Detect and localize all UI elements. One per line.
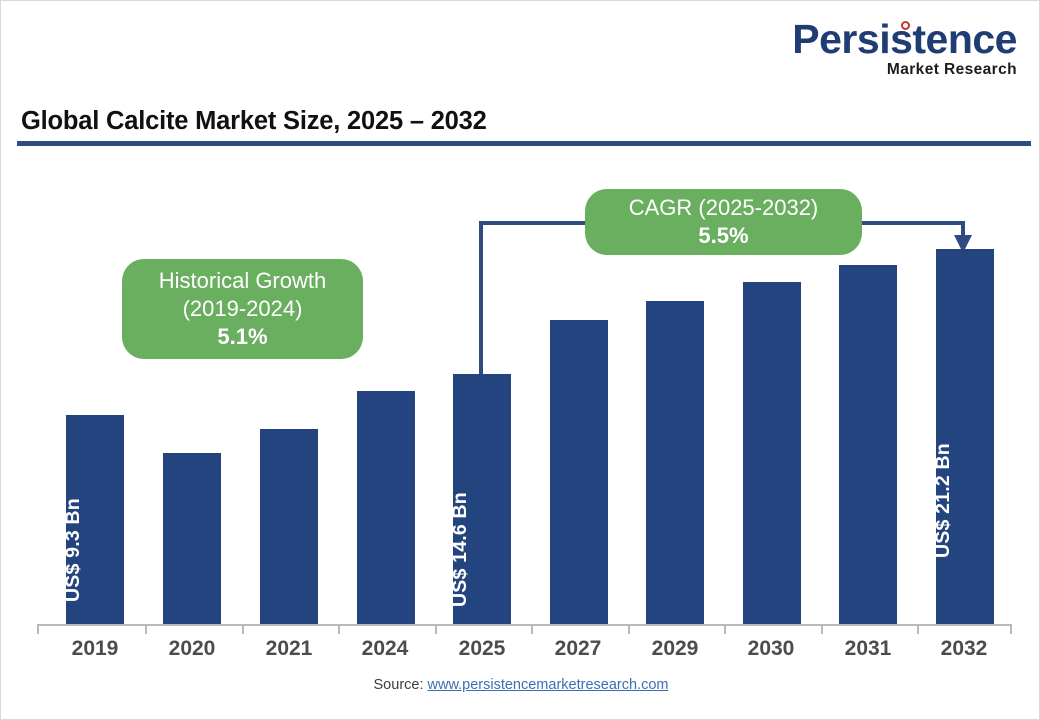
bar-2024 [357, 391, 415, 625]
x-axis-label-2021: 2021 [239, 637, 339, 661]
callout-historical-value: 5.1% [217, 323, 267, 351]
bar-2031 [839, 265, 897, 625]
x-axis-tick [821, 624, 823, 634]
x-axis-tick [1010, 624, 1012, 634]
bar-2030 [743, 282, 801, 625]
bar-chart-plot: US$ 9.3 Bn US$ 14.6 Bn US$ 21.2 Bn 2019 … [1, 1, 1040, 720]
x-axis-tick [917, 624, 919, 634]
callout-historical-growth: Historical Growth (2019-2024) 5.1% [122, 259, 363, 359]
x-axis-tick [531, 624, 533, 634]
x-axis-label-2031: 2031 [818, 637, 918, 661]
x-axis-tick [435, 624, 437, 634]
chart-page: Persistence Market Research Global Calci… [0, 0, 1040, 720]
bar-2027 [550, 320, 608, 625]
callout-cagr: CAGR (2025-2032) 5.5% [585, 189, 862, 255]
bar-2021 [260, 429, 318, 625]
callout-cagr-value: 5.5% [698, 222, 748, 250]
x-axis-label-2032: 2032 [914, 637, 1014, 661]
x-axis-tick [145, 624, 147, 634]
callout-historical-line2: (2019-2024) [183, 295, 303, 323]
x-axis-tick [724, 624, 726, 634]
source-link[interactable]: www.persistencemarketresearch.com [428, 677, 669, 693]
bar-2020 [163, 453, 221, 625]
x-axis-label-2029: 2029 [625, 637, 725, 661]
bar-label-2032: US$ 21.2 Bn [932, 443, 955, 558]
x-axis-tick [338, 624, 340, 634]
bar-label-2019: US$ 9.3 Bn [62, 498, 85, 602]
x-axis-label-2025: 2025 [432, 637, 532, 661]
source-prefix: Source: [374, 677, 428, 693]
callout-historical-line1: Historical Growth [159, 267, 326, 295]
x-axis-line [37, 624, 1010, 626]
bar-2032 [936, 249, 994, 625]
bar-label-2025: US$ 14.6 Bn [449, 492, 472, 607]
x-axis-label-2030: 2030 [721, 637, 821, 661]
x-axis-tick [628, 624, 630, 634]
bar-2029 [646, 301, 704, 625]
x-axis-label-2020: 2020 [142, 637, 242, 661]
x-axis-label-2019: 2019 [45, 637, 145, 661]
callout-cagr-line1: CAGR (2025-2032) [629, 194, 819, 222]
x-axis-label-2024: 2024 [335, 637, 435, 661]
x-axis-tick [37, 624, 39, 634]
x-axis-tick [242, 624, 244, 634]
x-axis-label-2027: 2027 [528, 637, 628, 661]
source-note: Source: www.persistencemarketresearch.co… [1, 677, 1040, 693]
